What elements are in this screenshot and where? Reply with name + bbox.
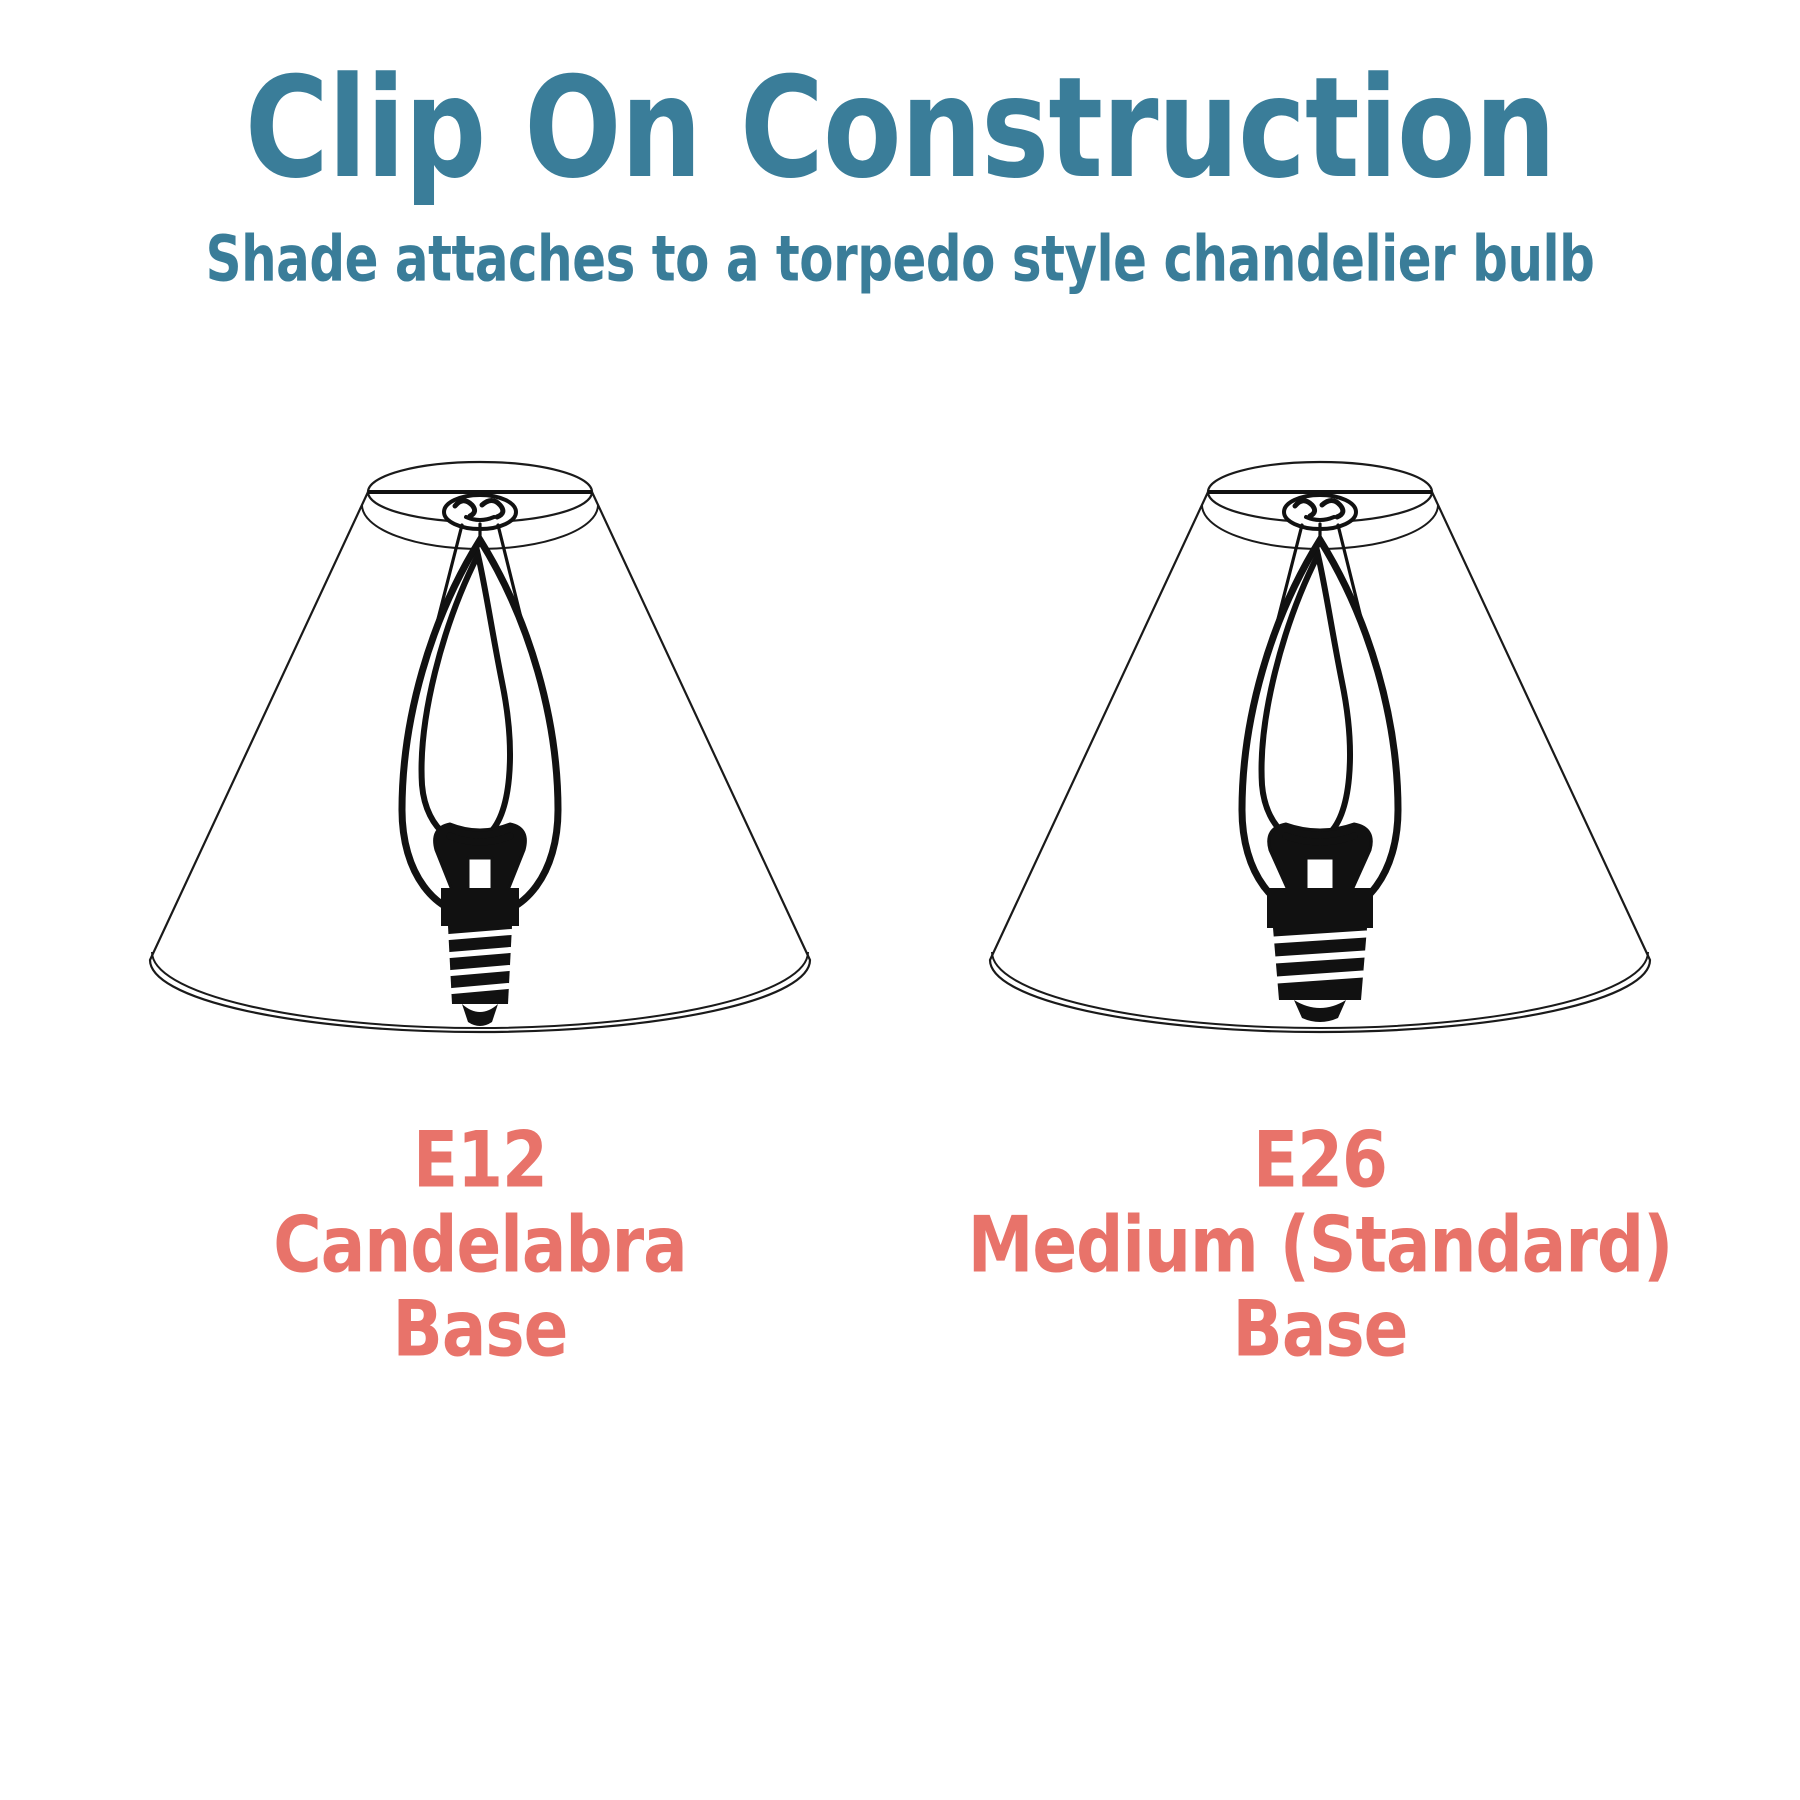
illustration-e12 xyxy=(130,420,830,1090)
page-subtitle: Shade attaches to a torpedo style chande… xyxy=(36,228,1764,291)
figure-row: E12 Candelabra Base xyxy=(0,420,1800,1372)
figure-e26: E26 Medium (Standard) Base xyxy=(900,420,1740,1372)
base-collar xyxy=(1267,888,1373,928)
caption-e12: E12 Candelabra Base xyxy=(273,1118,686,1372)
header: Clip On Construction Shade attaches to a… xyxy=(0,58,1800,280)
page-title: Clip On Construction xyxy=(27,58,1773,197)
figure-e12: E12 Candelabra Base xyxy=(60,420,900,1372)
illustration-e26 xyxy=(970,420,1670,1090)
caption-e12-line-3: Base xyxy=(273,1287,686,1387)
infographic-page: Clip On Construction Shade attaches to a… xyxy=(0,0,1800,1800)
caption-e26-line-3: Base xyxy=(968,1287,1673,1387)
caption-e26: E26 Medium (Standard) Base xyxy=(968,1118,1673,1372)
base-collar xyxy=(441,888,519,926)
